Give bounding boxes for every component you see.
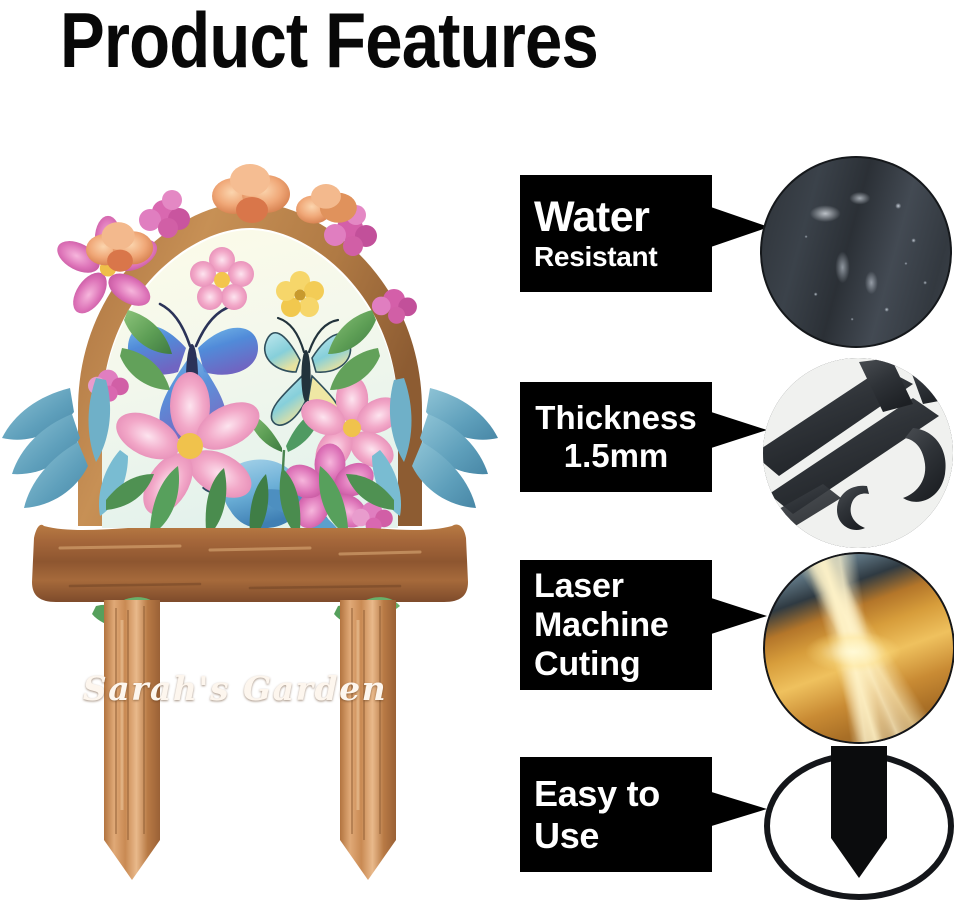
product-illustration: Sarah's Garden [0,150,500,890]
product-features-infographic: Product Features [0,0,954,900]
feature-label-line: Cuting [534,645,702,684]
pointed-stake-diagram [763,752,954,900]
sign-plank [32,525,468,603]
ground-stake-left [104,600,160,880]
laser-cutting-sparks-photo [763,552,954,744]
wet-textured-surface-photo [760,156,952,348]
ground-stake-right [340,600,396,880]
feature-label-line: Resistant [534,240,702,273]
callout-pointer-icon [705,790,767,828]
feature-label-line: Easy to [534,773,702,815]
feature-label-easy-to-use: Easy to Use [520,757,712,872]
feature-label-laser-cutting: Laser Machine Cuting [520,560,712,690]
callout-pointer-icon [705,410,767,450]
feature-label-line: Laser [534,567,702,606]
feature-label-line: 1.5mm [564,437,669,475]
callout-pointer-icon [705,596,767,636]
metal-thickness-closeup-photo [763,358,953,548]
feature-label-line: Thickness [535,399,696,437]
feature-label-thickness: Thickness 1.5mm [520,382,712,492]
feature-label-line: Machine [534,606,702,645]
page-title: Product Features [60,0,598,82]
feature-label-line: Water [534,195,702,240]
feature-label-water-resistant: Water Resistant [520,175,712,292]
feature-label-line: Use [534,815,702,857]
